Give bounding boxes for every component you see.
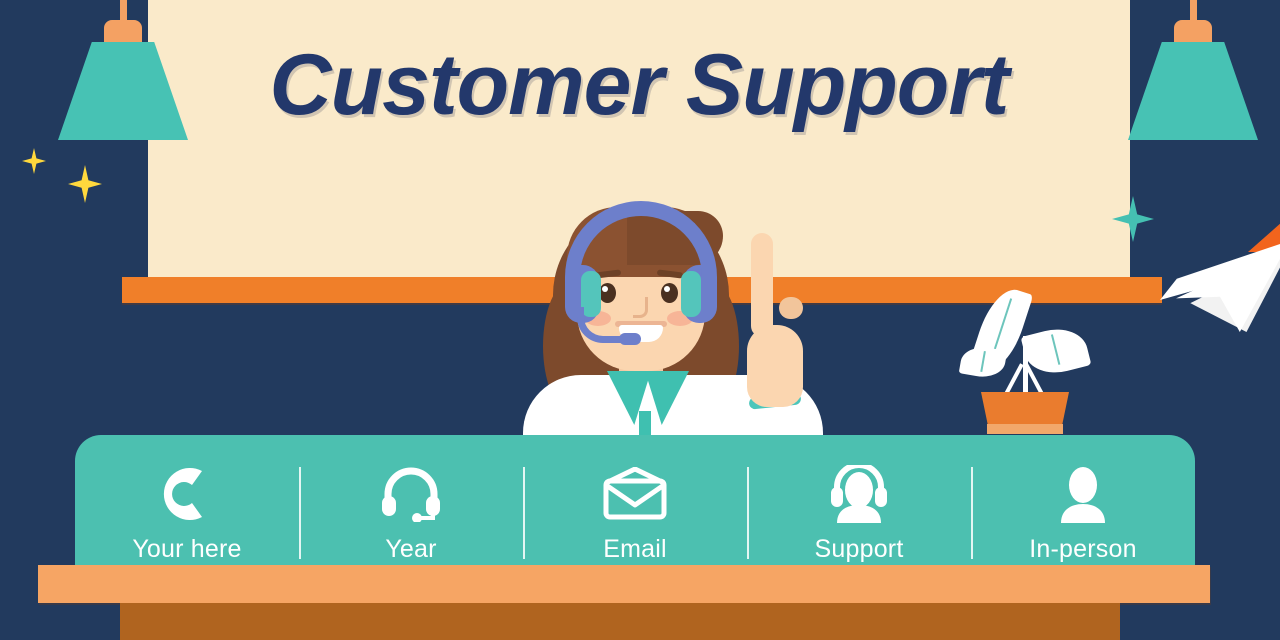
- phone-icon: [154, 463, 220, 525]
- contact-option-label: Your here: [132, 535, 241, 564]
- agent-hand: [747, 325, 803, 407]
- headset-pad-right: [681, 271, 701, 317]
- pendant-lamp-icon-left: [58, 0, 188, 140]
- lamp-shade: [58, 42, 188, 140]
- contact-option-email[interactable]: Email: [523, 435, 747, 565]
- contact-option-phone[interactable]: Your here: [75, 435, 299, 565]
- headset-mic-tip: [619, 333, 641, 345]
- desk-front: [120, 603, 1120, 640]
- customer-support-banner: Customer Support: [0, 0, 1280, 640]
- headset-icon: [378, 463, 444, 525]
- envelope-icon: [602, 463, 668, 525]
- contact-option-label: Year: [385, 535, 436, 564]
- support-agent-illustration: [515, 185, 845, 445]
- contact-option-support[interactable]: Support: [747, 435, 971, 565]
- page-title-text: Customer Support: [270, 36, 1009, 135]
- plant-pot: [981, 392, 1069, 426]
- contact-option-in-person[interactable]: In-person: [971, 435, 1195, 565]
- contact-option-label: Support: [815, 535, 904, 564]
- contact-option-headset[interactable]: Year: [299, 435, 523, 565]
- contact-option-label: In-person: [1029, 535, 1136, 564]
- pendant-lamp-icon-right: [1128, 0, 1258, 140]
- paper-plane-icon: [1160, 222, 1280, 332]
- contact-options-bar: Your here Year: [75, 435, 1195, 565]
- agent-nose: [633, 297, 648, 318]
- agent-pointing-finger: [751, 233, 773, 337]
- contact-option-label: Email: [603, 535, 667, 564]
- plant-stem-left: [1003, 363, 1023, 397]
- agent-headset-icon: [826, 463, 892, 525]
- desk-top: [38, 565, 1210, 603]
- potted-plant-icon: [955, 285, 1095, 440]
- person-icon: [1050, 463, 1116, 525]
- agent-thumb: [779, 297, 803, 319]
- lamp-shade: [1128, 42, 1258, 140]
- plant-saucer: [987, 424, 1063, 434]
- plant-leaf: [959, 343, 1008, 380]
